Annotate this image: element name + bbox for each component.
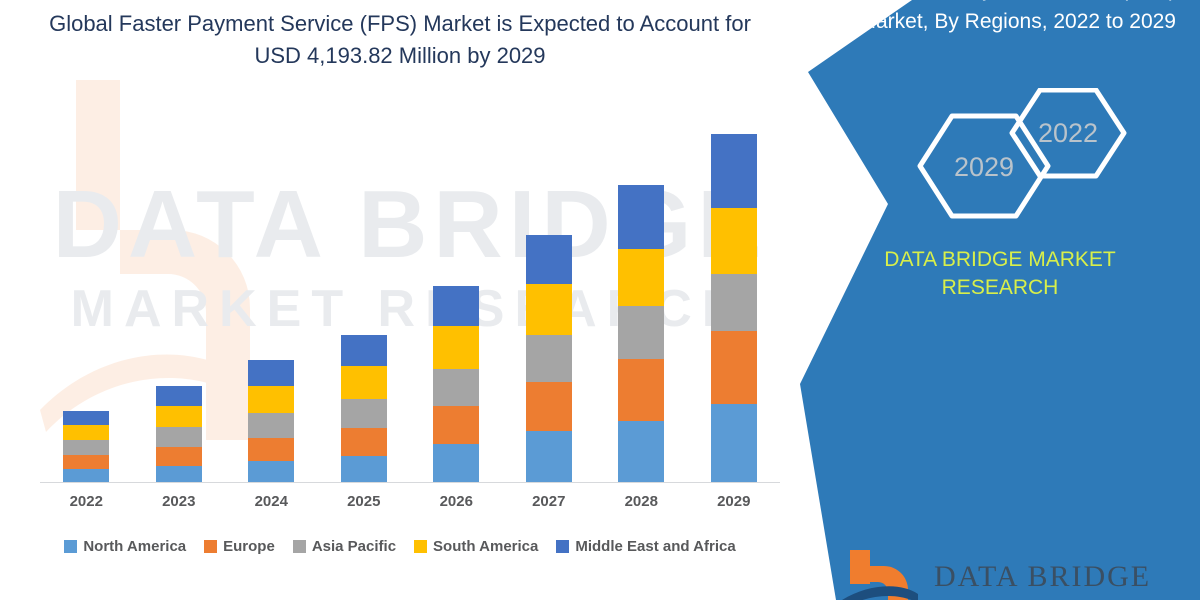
page-title: Global Faster Payment Service (FPS) Mark…: [0, 8, 800, 72]
legend-item[interactable]: North America: [64, 538, 186, 555]
bar-segment[interactable]: [433, 326, 479, 369]
chart-legend: North AmericaEuropeAsia PacificSouth Ame…: [0, 538, 800, 555]
footer-logo: DATA BRIDGE: [842, 544, 1172, 600]
bar-segment[interactable]: [341, 399, 387, 428]
chart-plot-area: [40, 100, 780, 483]
bar-segment[interactable]: [618, 249, 664, 306]
legend-label: South America: [433, 538, 538, 555]
bar-segment[interactable]: [248, 461, 294, 483]
brand-name: DATA BRIDGE MARKET RESEARCH: [830, 246, 1170, 303]
bar-segment[interactable]: [63, 440, 109, 455]
bar-segment[interactable]: [711, 274, 757, 331]
legend-label: Asia Pacific: [312, 538, 396, 555]
x-axis-tick-2023: 2023: [144, 493, 214, 510]
bar-segment[interactable]: [248, 413, 294, 438]
bar-segment[interactable]: [433, 444, 479, 483]
bar-segment[interactable]: [433, 369, 479, 406]
bar-column-2024[interactable]: [248, 360, 294, 483]
x-axis-tick-2027: 2027: [514, 493, 584, 510]
bar-segment[interactable]: [63, 425, 109, 440]
bar-segment[interactable]: [526, 235, 572, 284]
legend-label: Europe: [223, 538, 275, 555]
x-axis-tick-2029: 2029: [699, 493, 769, 510]
bar-segment[interactable]: [711, 134, 757, 208]
bar-segment[interactable]: [433, 406, 479, 444]
x-axis-tick-2022: 2022: [51, 493, 121, 510]
bridge-b-logo-icon: [842, 550, 918, 600]
bar-segment[interactable]: [156, 386, 202, 406]
bar-segment[interactable]: [156, 447, 202, 466]
bar-segment[interactable]: [711, 208, 757, 274]
chart-panel: DATA BRIDGE MARKET RESEARCH Global Faste…: [0, 0, 900, 600]
legend-swatch-icon: [293, 540, 306, 553]
legend-swatch-icon: [204, 540, 217, 553]
bar-segment[interactable]: [156, 427, 202, 447]
legend-item[interactable]: Middle East and Africa: [556, 538, 735, 555]
bar-segment[interactable]: [526, 284, 572, 335]
bar-column-2028[interactable]: [618, 185, 664, 483]
bar-segment[interactable]: [526, 335, 572, 382]
bar-column-2023[interactable]: [156, 386, 202, 483]
bar-segment[interactable]: [156, 466, 202, 483]
legend-swatch-icon: [556, 540, 569, 553]
svg-text:2022: 2022: [1038, 118, 1098, 148]
legend-swatch-icon: [414, 540, 427, 553]
bar-segment[interactable]: [526, 431, 572, 483]
bar-column-2027[interactable]: [526, 235, 572, 483]
bar-segment[interactable]: [341, 456, 387, 483]
bar-segment[interactable]: [341, 366, 387, 399]
brand-panel: Global Faster Payment Service (FPS) Mark…: [800, 0, 1200, 600]
chart-baseline-axis: [40, 482, 780, 483]
brand-name-line-2: RESEARCH: [830, 274, 1170, 302]
x-axis-tick-2028: 2028: [606, 493, 676, 510]
bar-segment[interactable]: [711, 404, 757, 483]
bar-segment[interactable]: [526, 382, 572, 431]
bar-segment[interactable]: [248, 386, 294, 413]
bar-segment[interactable]: [248, 360, 294, 386]
x-axis-tick-2026: 2026: [421, 493, 491, 510]
legend-item[interactable]: Asia Pacific: [293, 538, 396, 555]
bar-column-2026[interactable]: [433, 286, 479, 483]
bar-segment[interactable]: [156, 406, 202, 427]
bar-segment[interactable]: [248, 438, 294, 461]
x-axis-tick-2025: 2025: [329, 493, 399, 510]
bar-segment[interactable]: [618, 421, 664, 483]
legend-swatch-icon: [64, 540, 77, 553]
hexagon-2029-icon: 2029: [920, 116, 1048, 216]
bar-segment[interactable]: [63, 411, 109, 425]
svg-text:2029: 2029: [954, 152, 1014, 182]
legend-label: Middle East and Africa: [575, 538, 735, 555]
bar-segment[interactable]: [618, 306, 664, 359]
bar-segment[interactable]: [618, 359, 664, 421]
bar-segment[interactable]: [341, 428, 387, 456]
legend-label: North America: [83, 538, 186, 555]
bar-segment[interactable]: [63, 455, 109, 469]
brand-name-line-1: DATA BRIDGE MARKET: [830, 246, 1170, 274]
bar-column-2022[interactable]: [63, 411, 109, 483]
bar-segment[interactable]: [433, 286, 479, 326]
legend-item[interactable]: Europe: [204, 538, 275, 555]
bar-column-2029[interactable]: [711, 134, 757, 483]
bar-segment[interactable]: [63, 469, 109, 483]
x-axis-tick-2024: 2024: [236, 493, 306, 510]
bar-segment[interactable]: [618, 185, 664, 249]
legend-item[interactable]: South America: [414, 538, 538, 555]
bar-segment[interactable]: [711, 331, 757, 404]
bar-column-2025[interactable]: [341, 335, 387, 483]
x-axis-labels: 20222023202420252026202720282029: [40, 493, 780, 521]
bar-segment[interactable]: [341, 335, 387, 366]
svg-text:DATA BRIDGE: DATA BRIDGE: [934, 560, 1151, 593]
